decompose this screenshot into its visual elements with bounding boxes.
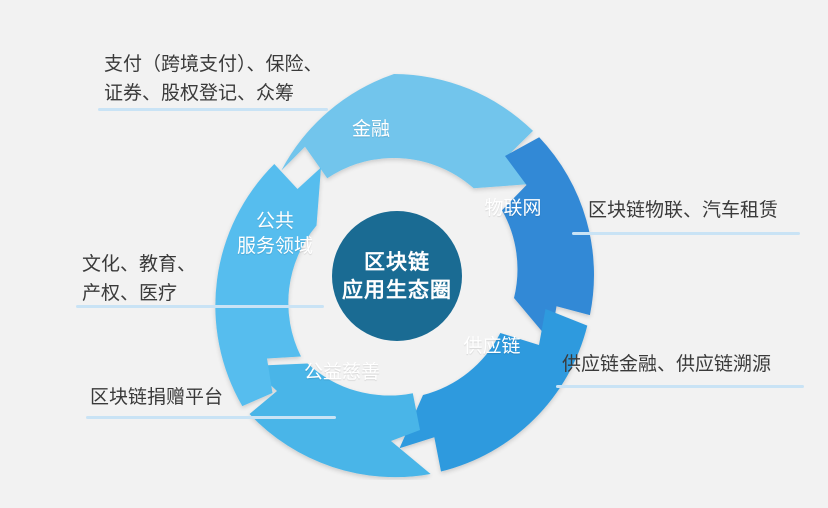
segment-label-iot-line1: 物联网 (458, 196, 568, 221)
callout-iot-line1: 区块链物联、汽车租赁 (588, 196, 778, 225)
callout-public-service: 文化、教育、 产权、医疗 (82, 250, 196, 309)
center-hub: 区块链 应用生态圈 (332, 211, 462, 341)
connector-line-iot (572, 232, 800, 235)
callout-finance-line1: 支付（跨境支付）、保险、 (104, 50, 323, 79)
segment-label-finance: 金融 (316, 117, 426, 142)
connector-line-charity (86, 416, 336, 419)
callout-public-service-line1: 文化、教育、 (82, 250, 196, 279)
callout-supply-chain: 供应链金融、供应链溯源 (562, 350, 771, 379)
connector-line-finance (98, 108, 328, 111)
segment-label-iot: 物联网 (458, 196, 568, 221)
callout-charity: 区块链捐赠平台 (90, 383, 223, 412)
center-title-line1: 区块链 (364, 248, 430, 276)
segment-label-public-service: 公共 服务领域 (210, 209, 340, 258)
segment-label-supply-chain: 供应链 (437, 334, 547, 359)
callout-finance-line2: 证券、股权登记、众筹 (104, 79, 323, 108)
center-title-line2: 应用生态圈 (342, 276, 452, 304)
connector-line-supply-chain (556, 385, 804, 388)
callout-finance: 支付（跨境支付）、保险、 证券、股权登记、众筹 (104, 50, 323, 109)
segment-label-charity: 公益慈善 (277, 360, 407, 385)
segment-label-public-service-line2: 服务领域 (210, 234, 340, 259)
segment-label-finance-line1: 金融 (316, 117, 426, 142)
callout-supply-chain-line1: 供应链金融、供应链溯源 (562, 350, 771, 379)
connector-line-public-service (76, 305, 324, 308)
diagram-canvas: 区块链 应用生态圈 金融 物联网 供应链 公益慈善 公共 服务领域 支付（跨境支… (0, 0, 828, 508)
segment-label-charity-line1: 公益慈善 (277, 360, 407, 385)
segment-label-supply-chain-line1: 供应链 (437, 334, 547, 359)
callout-iot: 区块链物联、汽车租赁 (588, 196, 778, 225)
callout-charity-line1: 区块链捐赠平台 (90, 383, 223, 412)
segment-label-public-service-line1: 公共 (210, 209, 340, 234)
